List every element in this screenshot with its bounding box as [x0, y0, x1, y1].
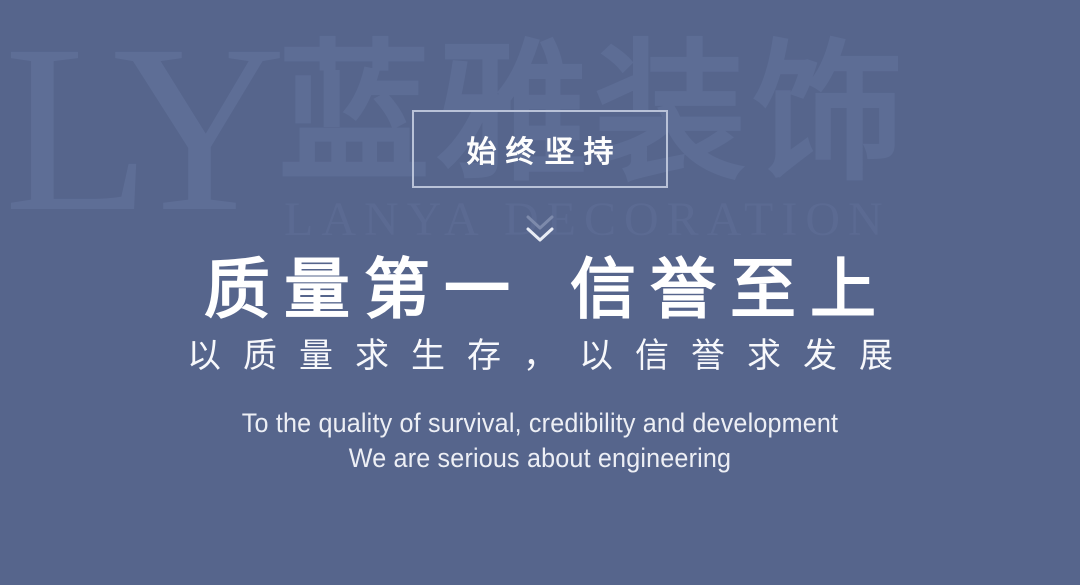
headline: 质量第一信誉至上	[0, 255, 1080, 324]
english-tagline-line-1: To the quality of survival, credibility …	[38, 406, 1042, 441]
watermark-monogram-ly: LY	[4, 8, 272, 248]
headline-right: 信誉至上	[570, 251, 890, 328]
headline-left: 质量第一	[204, 251, 524, 328]
english-tagline-line-2: We are serious about engineering	[38, 441, 1042, 476]
eyebrow-slogan-text: 始终坚持	[458, 127, 623, 171]
chevron-down-icon	[518, 207, 562, 251]
english-tagline: To the quality of survival, credibility …	[38, 406, 1042, 475]
promotional-banner: LY 蓝雅装饰 LANYA DECORATION 始终坚持 质量第一信誉至上 以…	[0, 0, 1080, 585]
subheadline: 以质量求生存，以信誉求发展	[0, 337, 1080, 376]
watermark-company-name-en: LANYA DECORATION	[284, 196, 891, 244]
eyebrow-slogan-box: 始终坚持	[412, 110, 668, 188]
